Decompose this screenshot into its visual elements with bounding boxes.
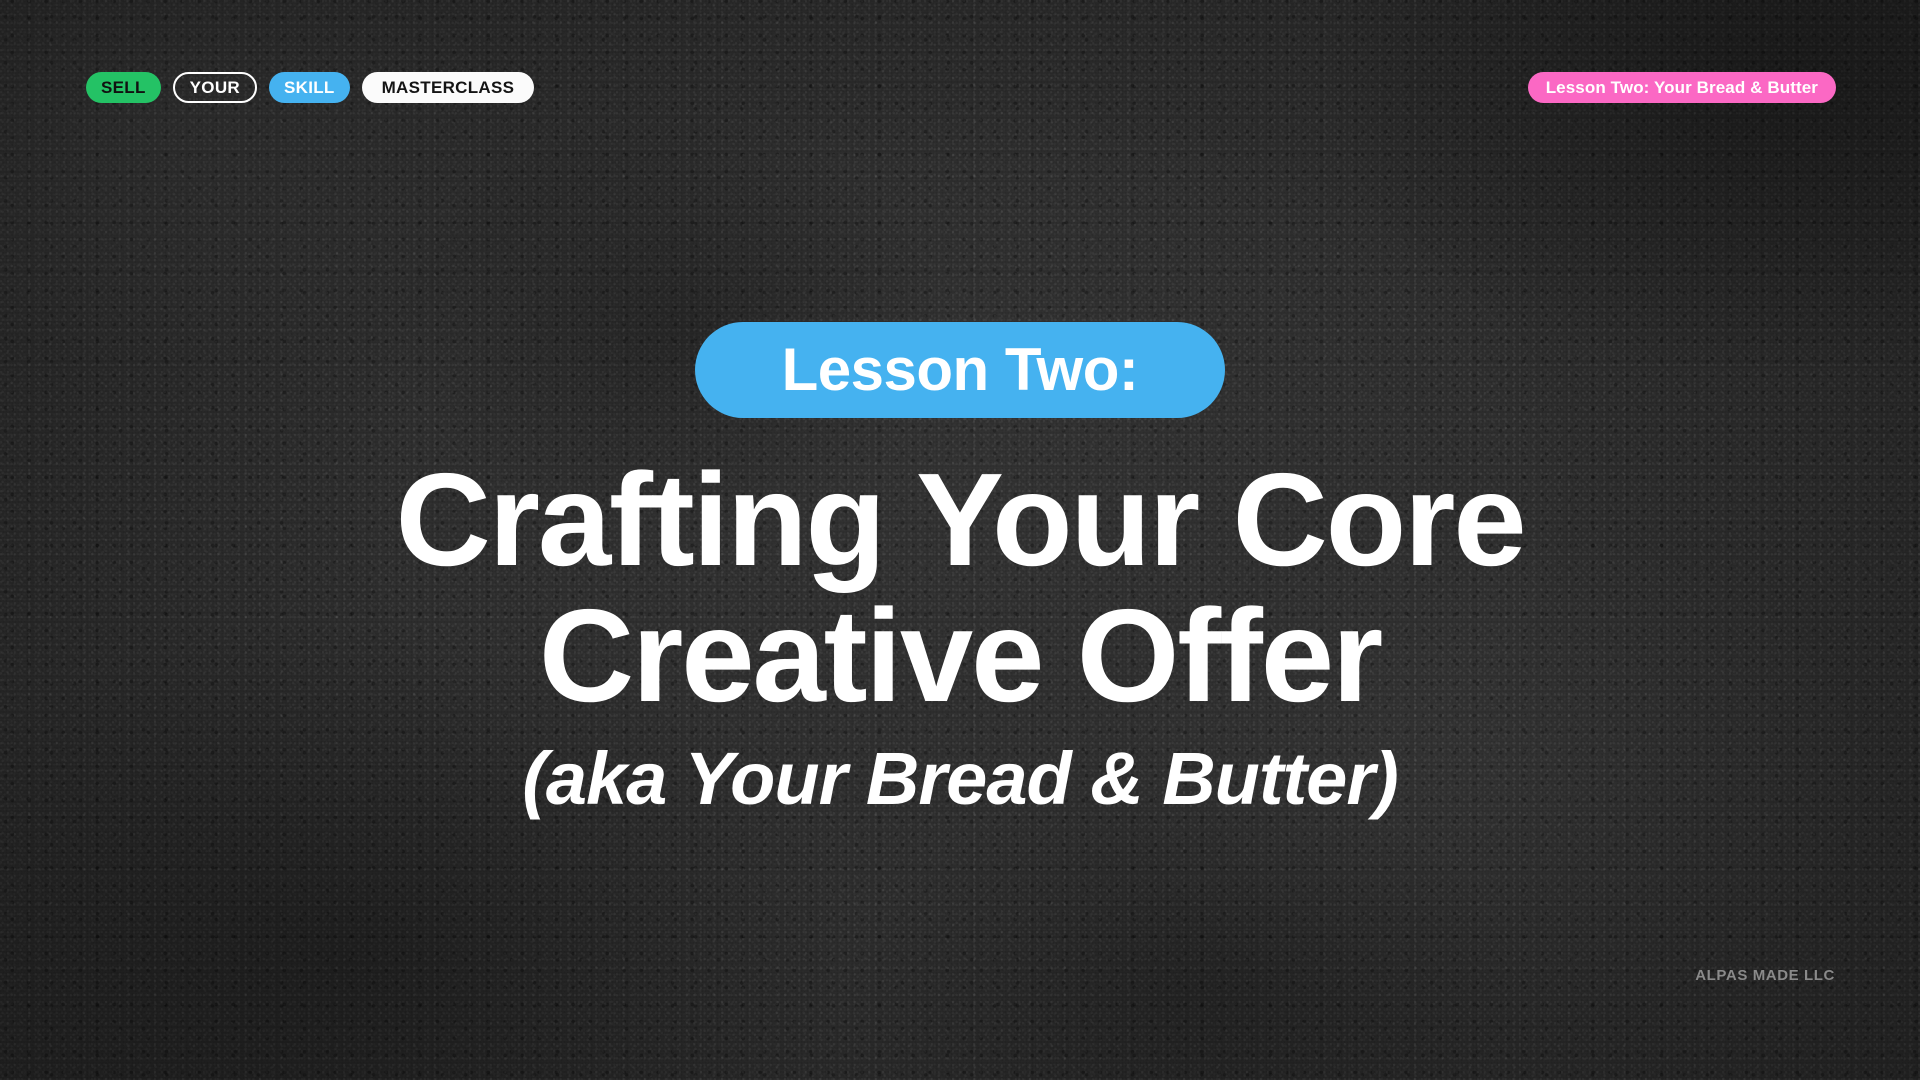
brand-badge-row: SELL YOUR SKILL MASTERCLASS <box>86 72 534 103</box>
brand-badge-masterclass: MASTERCLASS <box>362 72 535 103</box>
subtitle: (aka Your Bread & Butter) <box>522 738 1398 819</box>
slide-content-stage: Lesson Two: Crafting Your Core Creative … <box>0 0 1920 1080</box>
page-title: Crafting Your Core Creative Offer <box>396 452 1525 724</box>
lesson-tag-badge: Lesson Two: Your Bread & Butter <box>1528 72 1836 103</box>
headline-line-1: Crafting Your Core <box>396 452 1525 588</box>
brand-badge-skill: SKILL <box>269 72 350 103</box>
headline-line-2: Creative Offer <box>396 588 1525 724</box>
lesson-number-pill: Lesson Two: <box>695 322 1225 418</box>
company-watermark: ALPAS MADE LLC <box>1695 967 1835 984</box>
brand-badge-your: YOUR <box>173 72 257 103</box>
slide-root: SELL YOUR SKILL MASTERCLASS Lesson Two: … <box>0 0 1920 1080</box>
brand-badge-sell: SELL <box>86 72 161 103</box>
